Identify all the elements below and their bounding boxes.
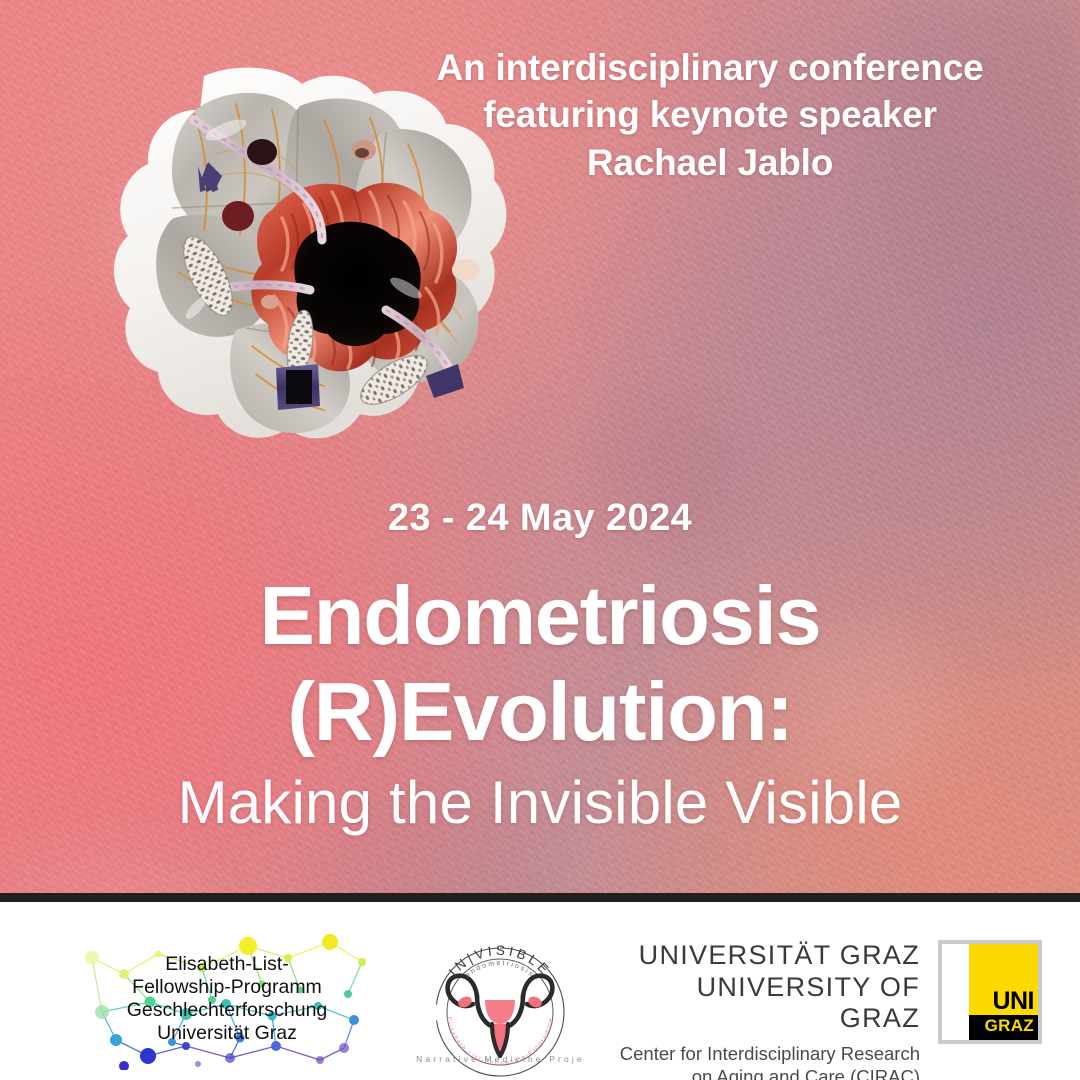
header-line-3: Rachael Jablo (360, 139, 1060, 186)
conference-date: 23 - 24 May 2024 (0, 497, 1080, 540)
graz-line-1: UNIVERSITÄT GRAZ (612, 940, 920, 972)
header-line-1: An interdisciplinary conference (360, 44, 1060, 91)
graz-text-block: UNIVERSITÄT GRAZ UNIVERSITY OF GRAZ Cent… (612, 940, 920, 1080)
ell-line-1: Elisabeth-List- (165, 953, 289, 976)
footer-divider (0, 893, 1080, 902)
logo-invisible-endometriosis: IN|VISIBLE endometriosis Elisabeth-List-… (405, 920, 595, 1078)
ell-line-3: Geschlechterforschung (127, 999, 328, 1022)
poster-subtitle: Making the Invisible Visible (0, 768, 1080, 837)
conference-poster: An interdisciplinary conference featurin… (0, 0, 1080, 1080)
logo-elisabeth-list-fellowship: Elisabeth-List- Fellowship-Programm Gesc… (62, 928, 392, 1070)
logo-elisabeth-list-text: Elisabeth-List- Fellowship-Programm Gesc… (62, 928, 392, 1070)
graz-line-2: UNIVERSITY OF GRAZ (612, 972, 920, 1035)
header-text-block: An interdisciplinary conference featurin… (360, 44, 1060, 186)
logo-university-of-graz: UNIVERSITÄT GRAZ UNIVERSITY OF GRAZ Cent… (612, 940, 1042, 1055)
title-line-2: (R)Evolution: (0, 664, 1080, 760)
uni-graz-mark-icon: UNI GRAZ (938, 940, 1042, 1044)
graz-mark-graz: GRAZ (985, 1017, 1034, 1036)
ell-line-2: Fellowship-Programm (132, 976, 322, 999)
poster-title: Endometriosis (R)Evolution: (0, 568, 1080, 761)
graz-sub-line-1: Center for Interdisciplinary Research (612, 1042, 920, 1066)
header-line-2: featuring keynote speaker (360, 91, 1060, 138)
title-line-1: Endometriosis (0, 568, 1080, 664)
graz-sub-line-2: on Aging and Care (CIRAC) (612, 1065, 920, 1080)
ell-line-4: Universität Graz (157, 1022, 297, 1045)
footer-logo-bar: Elisabeth-List- Fellowship-Programm Gesc… (0, 902, 1080, 1080)
graz-mark-uni: UNI (992, 989, 1034, 1014)
